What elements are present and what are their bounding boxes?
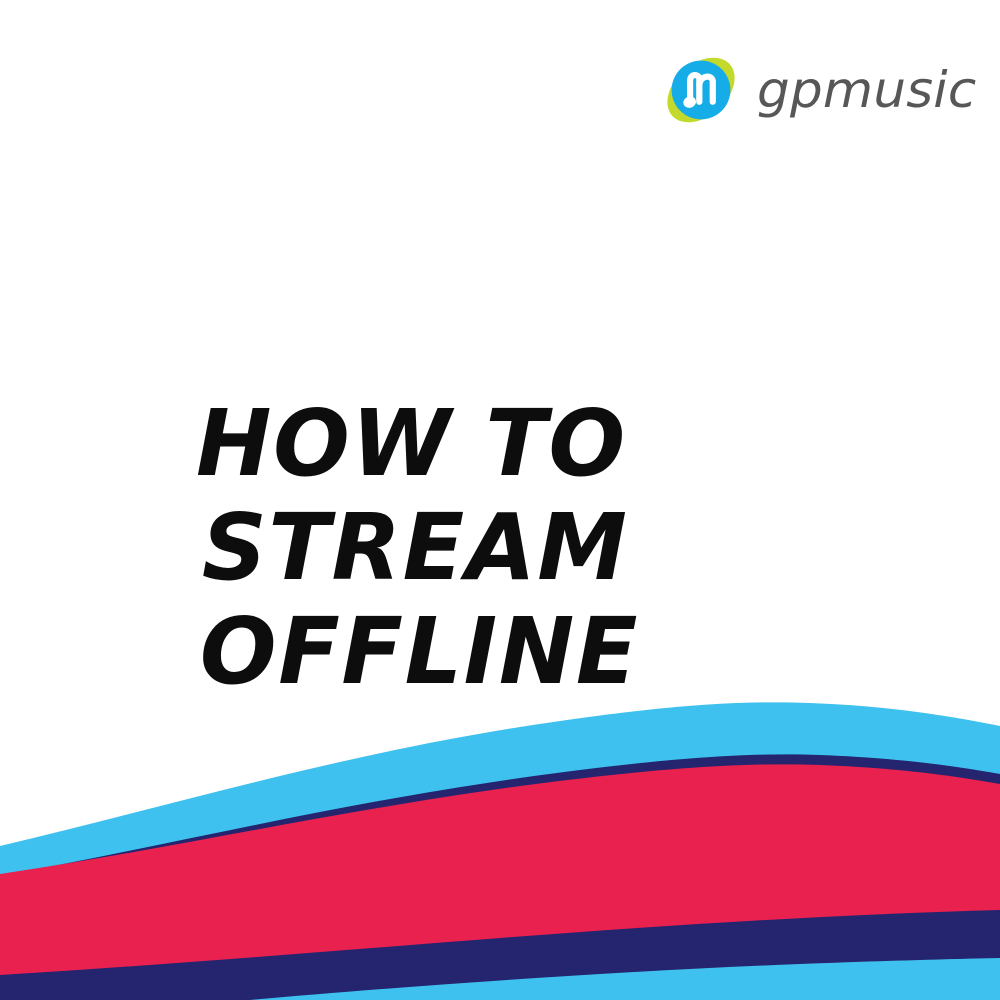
cyan-wave-lower [250,958,1000,1000]
headline-line-3: OFFLINE [196,600,823,704]
headline-line-1: HOW TO [196,392,823,496]
brand-logo[interactable]: gpmusic [659,48,970,132]
headline-line-2: STREAM [196,496,823,600]
brand-wordmark: gpmusic [757,65,976,115]
poster-canvas: gpmusic HOW TO STREAM OFFLINE [0,0,1000,1000]
crimson-wave [0,764,1000,1000]
cyan-wave-upper [0,702,1000,1000]
page-title: HOW TO STREAM OFFLINE [196,392,836,704]
navy-wave-upper [0,754,1000,1000]
navy-wave-lower [0,910,1000,1000]
gpmusic-logo-mark-icon[interactable] [659,48,743,132]
